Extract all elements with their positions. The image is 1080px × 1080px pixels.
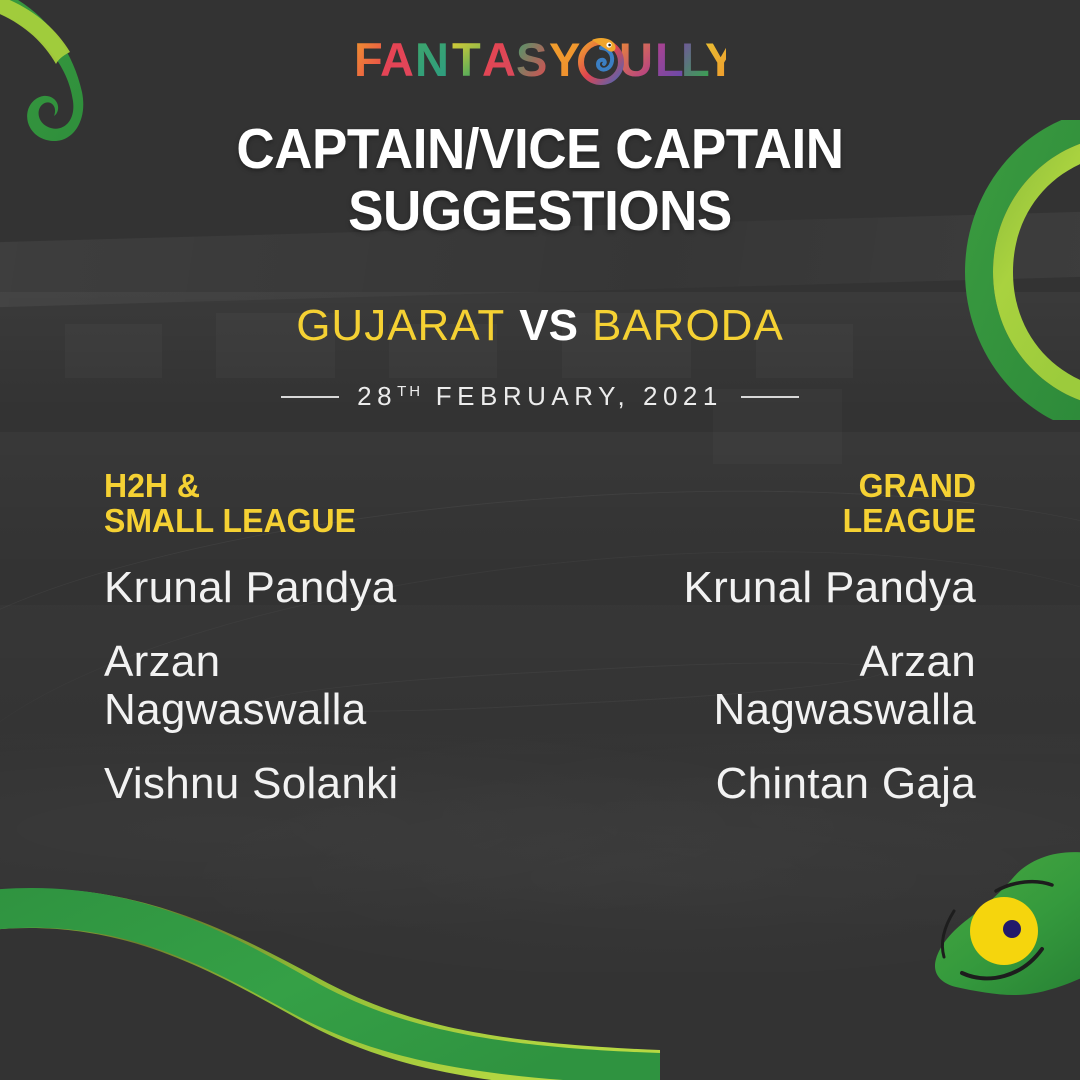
svg-text:N: N [415, 33, 448, 86]
player-name-line-1: Krunal Pandya [104, 564, 504, 612]
player-name-line-2: Nagwaswalla [576, 686, 976, 734]
column-heading: H2H & SMALL LEAGUE [104, 468, 492, 538]
player-name: Krunal Pandya [576, 564, 976, 612]
fantasy-gully-logo-icon: F A N T A S Y U L L Y [354, 32, 726, 90]
player-name: Arzan Nagwaswalla [576, 638, 976, 734]
player-name-line-2: Nagwaswalla [104, 686, 504, 734]
svg-text:F: F [354, 33, 382, 86]
team-away-label: BARODA [592, 301, 784, 350]
matchup: GUJARATVSBARODA [0, 300, 1080, 352]
date-month-year: FEBRUARY, 2021 [436, 381, 723, 411]
poster-canvas: F A N T A S Y U L L Y CAPTAI [0, 0, 1080, 1080]
date-ordinal: TH [397, 383, 423, 400]
svg-text:Y: Y [705, 33, 726, 86]
column-grand-league: GRAND LEAGUE Krunal Pandya Arzan Nagwasw… [576, 468, 976, 808]
match-date: 28TH FEBRUARY, 2021 [0, 381, 1080, 412]
player-name: Chintan Gaja [576, 760, 976, 808]
player-name-line-1: Chintan Gaja [576, 760, 976, 808]
column-heading-line-1: H2H & [104, 468, 492, 503]
player-name: Krunal Pandya [104, 564, 504, 612]
player-name: Vishnu Solanki [104, 760, 504, 808]
versus-label: VS [519, 301, 578, 350]
column-heading: GRAND LEAGUE [588, 468, 976, 538]
page-title-line-2: SUGGESTIONS [38, 180, 1042, 242]
player-name-line-1: Vishnu Solanki [104, 760, 504, 808]
date-text: 28TH FEBRUARY, 2021 [357, 381, 723, 412]
date-rule-left [281, 396, 339, 398]
page-title-line-1: CAPTAIN/VICE CAPTAIN [38, 118, 1042, 180]
green-ribbon-wave-icon [0, 835, 660, 1080]
column-heading-line-2: LEAGUE [588, 503, 976, 538]
svg-text:S: S [516, 33, 546, 86]
svg-text:A: A [482, 33, 515, 86]
svg-text:T: T [452, 33, 481, 86]
column-h2h-small-league: H2H & SMALL LEAGUE Krunal Pandya Arzan N… [104, 468, 504, 808]
chameleon-head-icon [910, 845, 1080, 1080]
page-title: CAPTAIN/VICE CAPTAIN SUGGESTIONS [38, 118, 1042, 242]
team-home-label: GUJARAT [296, 301, 505, 350]
svg-text:L: L [655, 33, 683, 86]
player-name-line-1: Arzan [576, 638, 976, 686]
player-name-line-1: Arzan [104, 638, 504, 686]
date-rule-right [741, 396, 799, 398]
svg-text:Y: Y [549, 33, 580, 86]
brand-logo[interactable]: F A N T A S Y U L L Y [0, 32, 1080, 98]
svg-text:U: U [619, 33, 652, 86]
suggestions-columns: H2H & SMALL LEAGUE Krunal Pandya Arzan N… [104, 468, 976, 808]
svg-text:A: A [380, 33, 413, 86]
player-name-line-1: Krunal Pandya [576, 564, 976, 612]
column-heading-line-1: GRAND [588, 468, 976, 503]
date-day: 28 [357, 381, 397, 411]
player-name: Arzan Nagwaswalla [104, 638, 504, 734]
column-heading-line-2: SMALL LEAGUE [104, 503, 492, 538]
